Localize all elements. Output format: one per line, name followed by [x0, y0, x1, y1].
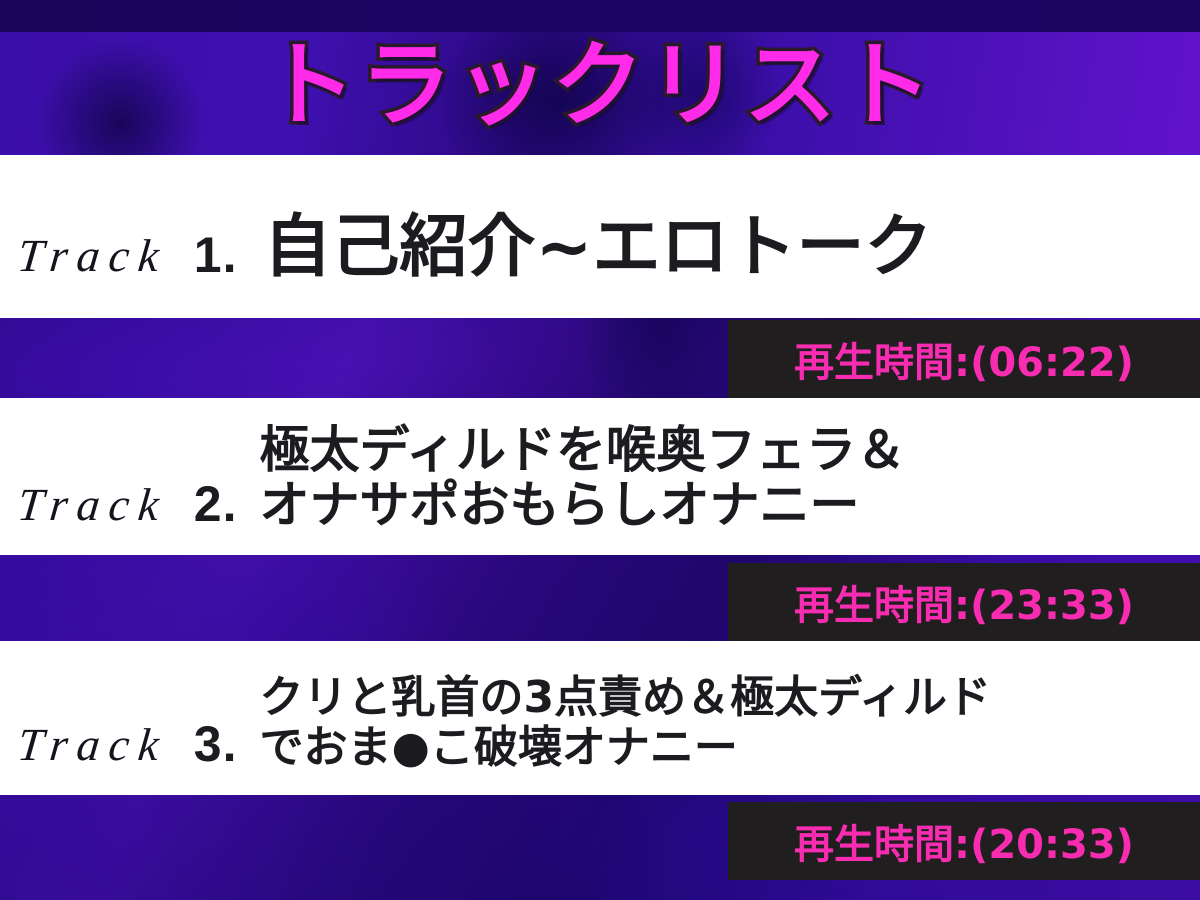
track-number: 2.	[194, 475, 238, 533]
track-title: クリと乳首の3点責め＆極太ディルド でおま●こ破壊オナニー	[259, 673, 991, 773]
track-title-line: 極太ディルドを喉奥フェラ＆	[259, 423, 906, 478]
duration-text: 再生時間:(20:33)	[794, 812, 1134, 870]
track-title-line: でおま●こ破壊オナニー	[259, 723, 991, 773]
track-title: 自己紹介~エロトーク	[263, 212, 932, 284]
duration-bar: 再生時間:(23:33)	[728, 563, 1200, 641]
track-title-line: 自己紹介~エロトーク	[263, 212, 932, 284]
track-label: Track	[15, 478, 170, 531]
track-number: 1.	[194, 226, 238, 284]
track-row[interactable]: Track 1. 自己紹介~エロトーク	[0, 155, 1200, 318]
duration-text: 再生時間:(06:22)	[794, 330, 1134, 388]
track-label: Track	[15, 229, 170, 282]
page-title: トラックリスト	[0, 30, 1200, 142]
duration-text: 再生時間:(23:33)	[794, 573, 1134, 631]
header-top-strip	[0, 0, 1200, 32]
duration-bar: 再生時間:(20:33)	[728, 802, 1200, 880]
track-number: 3.	[194, 715, 238, 773]
track-title-line: クリと乳首の3点責め＆極太ディルド	[259, 673, 991, 723]
track-title: 極太ディルドを喉奥フェラ＆ オナサポおもらしオナニー	[259, 423, 906, 533]
track-row[interactable]: Track 3. クリと乳首の3点責め＆極太ディルド でおま●こ破壊オナニー	[0, 641, 1200, 795]
track-list-page: トラックリスト Track 1. 自己紹介~エロトーク 再生時間:(06:22)…	[0, 0, 1200, 900]
track-label: Track	[15, 718, 170, 771]
track-title-line: オナサポおもらしオナニー	[259, 478, 906, 533]
duration-bar: 再生時間:(06:22)	[728, 320, 1200, 398]
track-row[interactable]: Track 2. 極太ディルドを喉奥フェラ＆ オナサポおもらしオナニー	[0, 398, 1200, 555]
